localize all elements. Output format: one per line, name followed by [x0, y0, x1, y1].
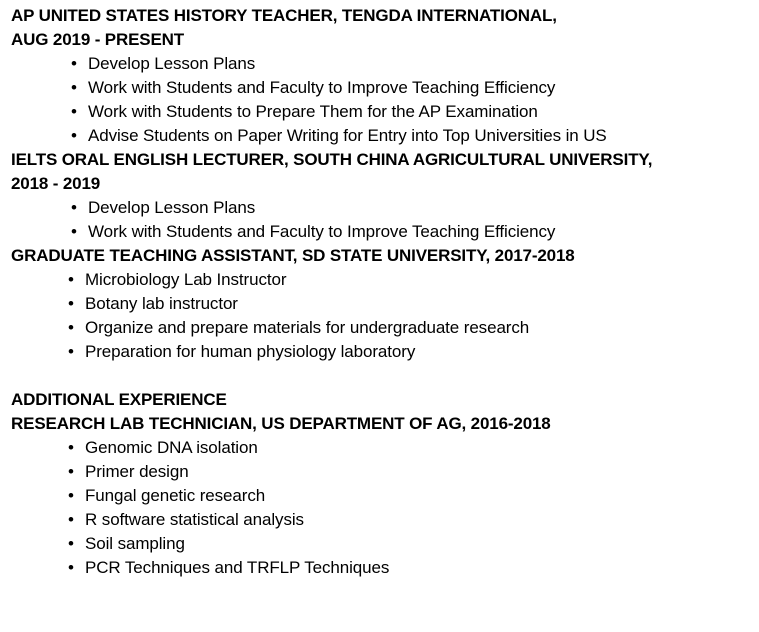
- list-item: • R software statistical analysis: [0, 508, 759, 532]
- list-item-label: R software statistical analysis: [85, 510, 304, 529]
- job-heading-line: AP UNITED STATES HISTORY TEACHER, TENGDA…: [0, 4, 759, 28]
- list-item: • Fungal genetic research: [0, 484, 759, 508]
- experience-section-ielts-lecturer: IELTS ORAL ENGLISH LECTURER, SOUTH CHINA…: [0, 148, 759, 244]
- responsibility-list: • Develop Lesson Plans • Work with Stude…: [0, 196, 759, 244]
- job-heading-line: IELTS ORAL ENGLISH LECTURER, SOUTH CHINA…: [0, 148, 759, 172]
- list-item: • Genomic DNA isolation: [0, 436, 759, 460]
- bullet-icon: •: [68, 532, 74, 556]
- list-item: • PCR Techniques and TRFLP Techniques: [0, 556, 759, 580]
- list-item-label: Develop Lesson Plans: [88, 54, 255, 73]
- list-item-label: Work with Students and Faculty to Improv…: [88, 222, 555, 241]
- section-spacer: [0, 364, 759, 388]
- list-item-label: Develop Lesson Plans: [88, 198, 255, 217]
- bullet-icon: •: [71, 76, 77, 100]
- bullet-icon: •: [68, 316, 74, 340]
- list-item-label: PCR Techniques and TRFLP Techniques: [85, 558, 389, 577]
- list-item-label: Soil sampling: [85, 534, 185, 553]
- list-item: • Organize and prepare materials for und…: [0, 316, 759, 340]
- list-item-label: Primer design: [85, 462, 189, 481]
- bullet-icon: •: [68, 340, 74, 364]
- experience-section-graduate-teaching-assistant: GRADUATE TEACHING ASSISTANT, SD STATE UN…: [0, 244, 759, 364]
- bullet-icon: •: [68, 292, 74, 316]
- list-item: • Work with Students to Prepare Them for…: [0, 100, 759, 124]
- list-item: • Botany lab instructor: [0, 292, 759, 316]
- list-item-label: Work with Students and Faculty to Improv…: [88, 78, 555, 97]
- bullet-icon: •: [68, 484, 74, 508]
- list-item: • Develop Lesson Plans: [0, 52, 759, 76]
- bullet-icon: •: [71, 124, 77, 148]
- list-item: • Work with Students and Faculty to Impr…: [0, 76, 759, 100]
- list-item: • Advise Students on Paper Writing for E…: [0, 124, 759, 148]
- bullet-icon: •: [68, 508, 74, 532]
- list-item-label: Genomic DNA isolation: [85, 438, 258, 457]
- bullet-icon: •: [68, 460, 74, 484]
- list-item-label: Work with Students to Prepare Them for t…: [88, 102, 538, 121]
- resume-page: AP UNITED STATES HISTORY TEACHER, TENGDA…: [0, 0, 759, 632]
- bullet-icon: •: [71, 100, 77, 124]
- list-item-label: Preparation for human physiology laborat…: [85, 342, 415, 361]
- list-item: • Develop Lesson Plans: [0, 196, 759, 220]
- list-item-label: Advise Students on Paper Writing for Ent…: [88, 126, 607, 145]
- section-title-additional-experience: ADDITIONAL EXPERIENCE: [0, 388, 759, 412]
- list-item-label: Botany lab instructor: [85, 294, 238, 313]
- bullet-icon: •: [68, 436, 74, 460]
- experience-section-additional: ADDITIONAL EXPERIENCE RESEARCH LAB TECHN…: [0, 388, 759, 580]
- list-item: • Soil sampling: [0, 532, 759, 556]
- responsibility-list: • Microbiology Lab Instructor • Botany l…: [0, 268, 759, 364]
- bullet-icon: •: [68, 268, 74, 292]
- job-heading-line: GRADUATE TEACHING ASSISTANT, SD STATE UN…: [0, 244, 759, 268]
- bullet-icon: •: [71, 220, 77, 244]
- job-heading-line: AUG 2019 - PRESENT: [0, 28, 759, 52]
- list-item: • Microbiology Lab Instructor: [0, 268, 759, 292]
- list-item: • Primer design: [0, 460, 759, 484]
- job-heading-line: 2018 - 2019: [0, 172, 759, 196]
- experience-section-ap-history: AP UNITED STATES HISTORY TEACHER, TENGDA…: [0, 4, 759, 148]
- list-item-label: Microbiology Lab Instructor: [85, 270, 286, 289]
- list-item: • Work with Students and Faculty to Impr…: [0, 220, 759, 244]
- bullet-icon: •: [71, 52, 77, 76]
- bullet-icon: •: [71, 196, 77, 220]
- list-item-label: Organize and prepare materials for under…: [85, 318, 529, 337]
- responsibility-list: • Develop Lesson Plans • Work with Stude…: [0, 52, 759, 148]
- bullet-icon: •: [68, 556, 74, 580]
- list-item-label: Fungal genetic research: [85, 486, 265, 505]
- list-item: • Preparation for human physiology labor…: [0, 340, 759, 364]
- responsibility-list: • Genomic DNA isolation • Primer design …: [0, 436, 759, 580]
- job-heading-line: RESEARCH LAB TECHNICIAN, US DEPARTMENT O…: [0, 412, 759, 436]
